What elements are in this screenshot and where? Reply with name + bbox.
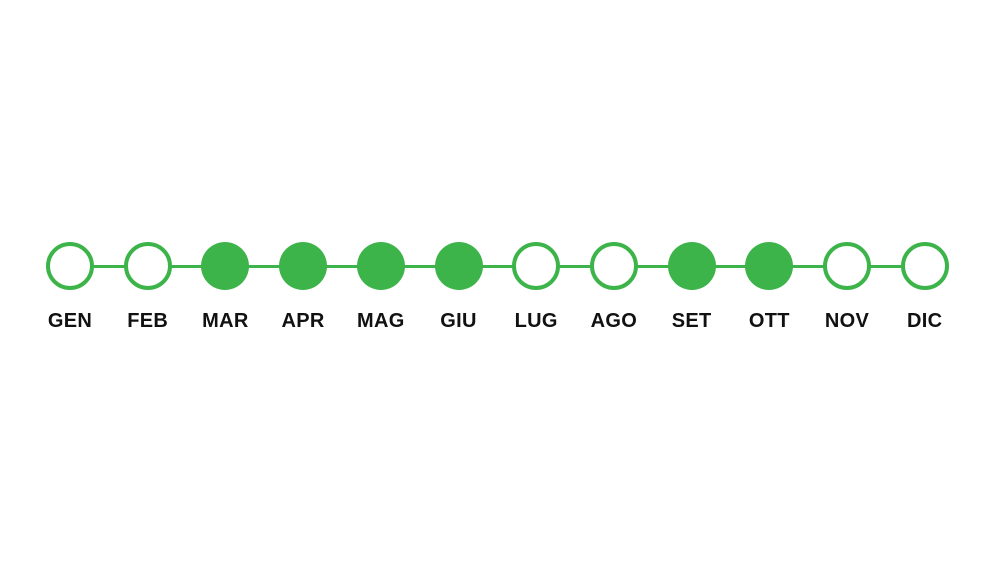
timeline-connector (791, 265, 825, 268)
timeline-connector (636, 265, 670, 268)
timeline-connector (170, 265, 204, 268)
month-marker-filled-icon[interactable] (357, 242, 405, 290)
month-marker-hollow-icon[interactable] (46, 242, 94, 290)
timeline-connector (247, 265, 281, 268)
month-marker-filled-icon[interactable] (435, 242, 483, 290)
month-marker-filled-icon[interactable] (279, 242, 327, 290)
month-marker-hollow-icon[interactable] (823, 242, 871, 290)
timeline-connector (481, 265, 515, 268)
month-marker-hollow-icon[interactable] (901, 242, 949, 290)
month-marker-hollow-icon[interactable] (512, 242, 560, 290)
month-track: GENFEBMARAPRMAGGIULUGAGOSETOTTNOVDIC (0, 0, 1000, 563)
month-timeline-widget: GENFEBMARAPRMAGGIULUGAGOSETOTTNOVDIC (0, 0, 1000, 563)
month-label-dic: DIC (865, 310, 985, 332)
month-marker-filled-icon[interactable] (201, 242, 249, 290)
month-marker-filled-icon[interactable] (745, 242, 793, 290)
timeline-connector (714, 265, 748, 268)
timeline-connector (869, 265, 903, 268)
timeline-connector (325, 265, 359, 268)
timeline-connector (403, 265, 437, 268)
timeline-connector (558, 265, 592, 268)
month-marker-hollow-icon[interactable] (590, 242, 638, 290)
month-marker-filled-icon[interactable] (668, 242, 716, 290)
timeline-connector (92, 265, 126, 268)
month-marker-hollow-icon[interactable] (124, 242, 172, 290)
